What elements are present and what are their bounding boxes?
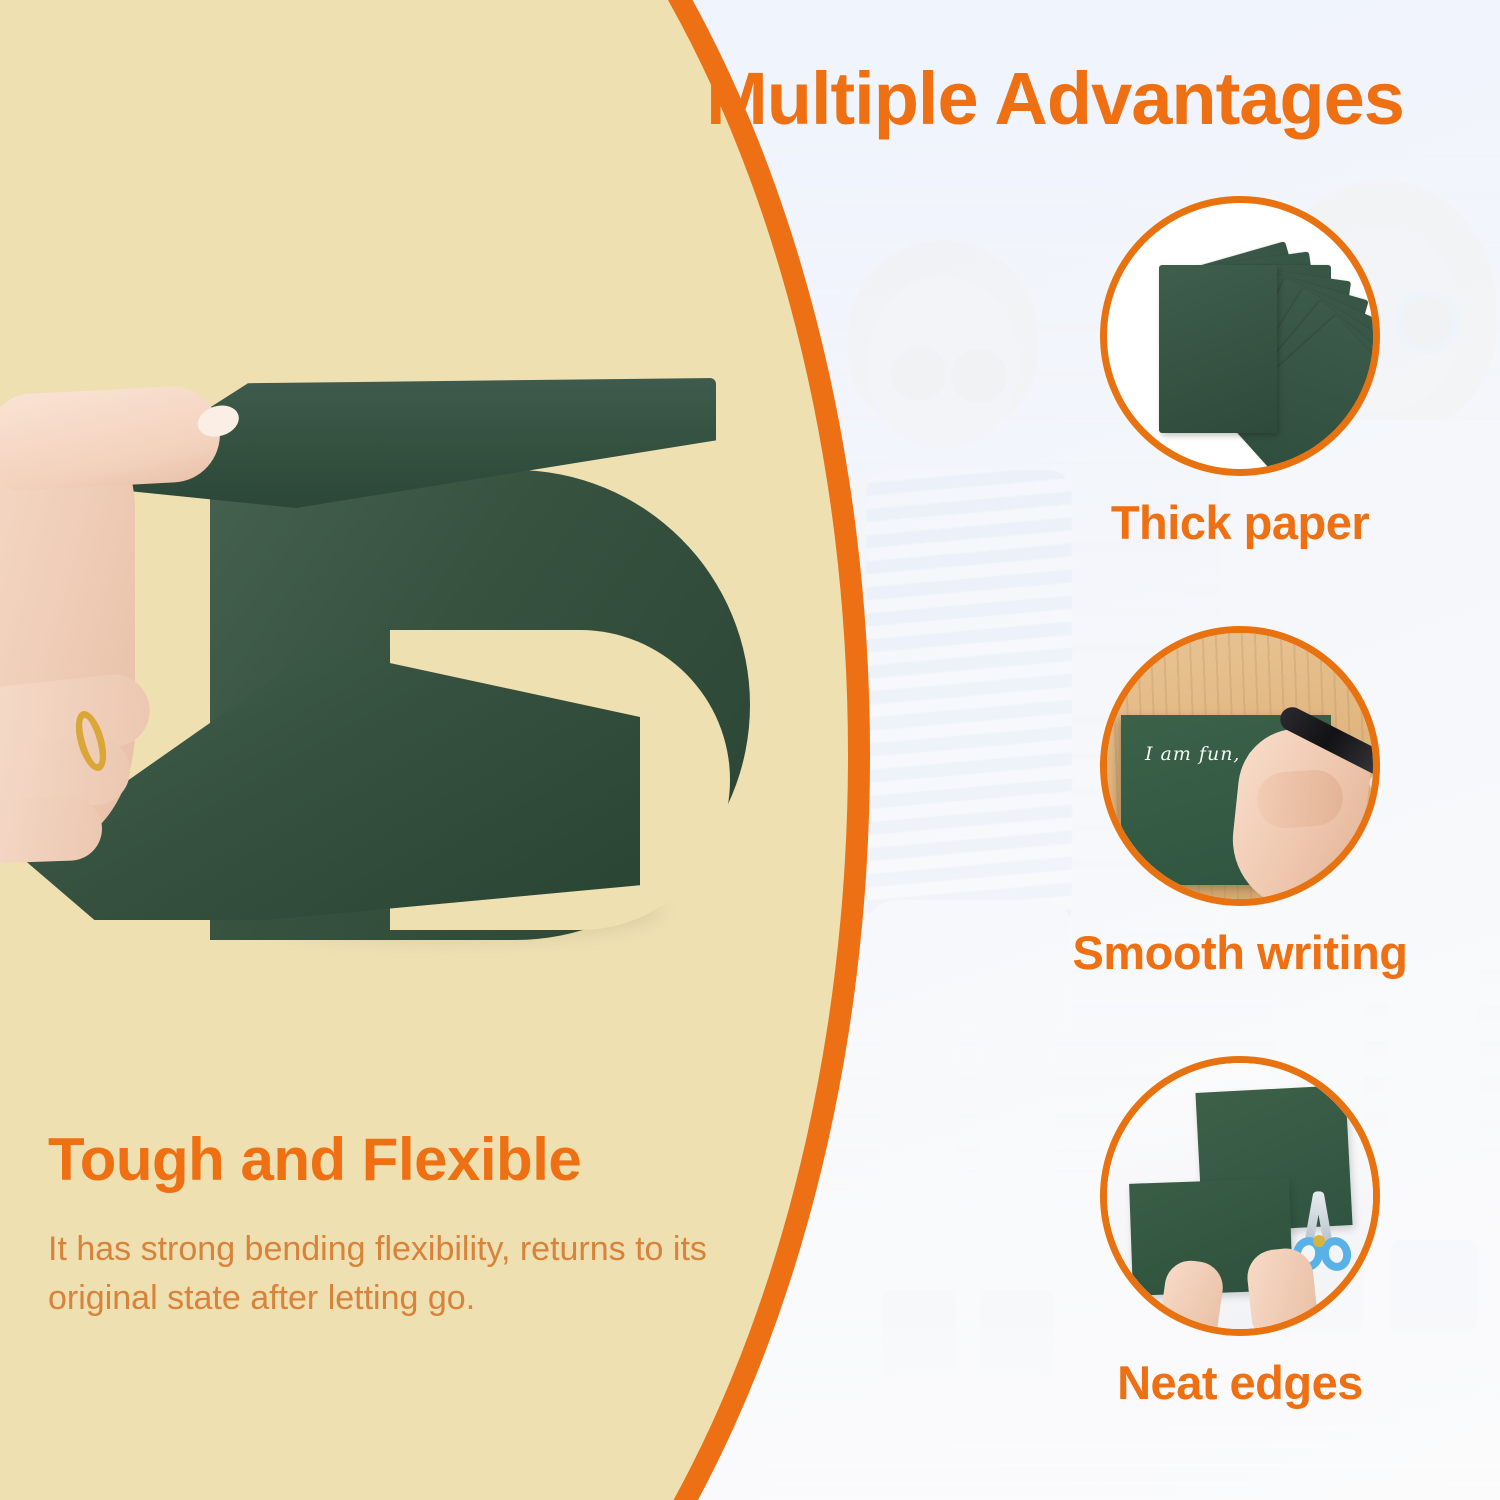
hero-photo-bending-paper bbox=[0, 360, 800, 1000]
scissor-pivot bbox=[1313, 1235, 1325, 1247]
writing-hand-knuckles bbox=[1255, 768, 1345, 830]
left-body-text: It has strong bending flexibility, retur… bbox=[48, 1225, 788, 1324]
feature-label-neat-edges: Neat edges bbox=[1000, 1358, 1480, 1407]
feature-image-thick-paper bbox=[1100, 196, 1380, 476]
feature-image-neat-edges bbox=[1100, 1056, 1380, 1336]
feature-neat-edges: Neat edges bbox=[1000, 1056, 1480, 1407]
hand-holding-paper bbox=[0, 380, 230, 900]
feature-label-thick-paper: Thick paper bbox=[1000, 498, 1480, 547]
feature-label-smooth-writing: Smooth writing bbox=[1000, 928, 1480, 977]
infographic-canvas: Multiple Advantages Tough and Flexible I… bbox=[0, 0, 1500, 1500]
left-heading: Tough and Flexible bbox=[48, 1128, 788, 1191]
finger-ring bbox=[0, 796, 103, 865]
thumb bbox=[0, 384, 222, 492]
page-title: Multiple Advantages bbox=[620, 62, 1490, 136]
feature-thick-paper: Thick paper bbox=[1000, 196, 1480, 547]
feature-image-smooth-writing: I am fun, and bbox=[1100, 626, 1380, 906]
hand-right bbox=[1245, 1246, 1320, 1336]
feature-smooth-writing: I am fun, and Smooth writing bbox=[1000, 626, 1480, 977]
left-text-block: Tough and Flexible It has strong bending… bbox=[48, 1128, 788, 1324]
stack-front-sheet bbox=[1159, 265, 1277, 433]
